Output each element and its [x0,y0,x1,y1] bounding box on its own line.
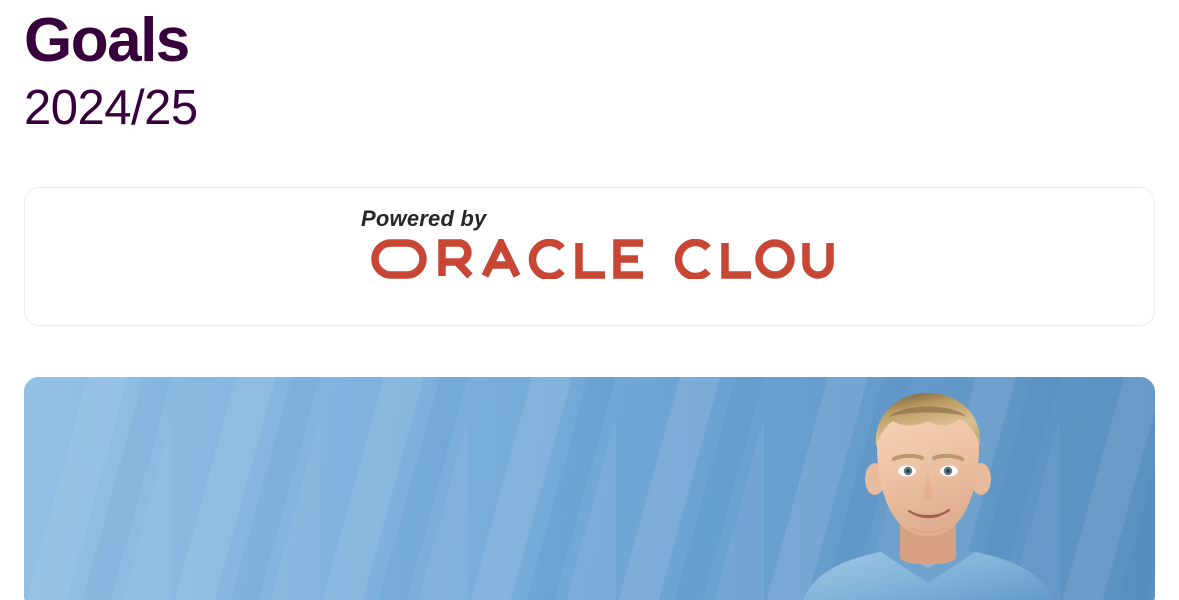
chevron-pattern [24,377,1155,600]
page-title: Goals [24,8,198,75]
sponsor-lockup: Powered by [361,206,835,279]
sponsor-card: Powered by [24,187,1155,326]
oracle-cloud-logo [369,239,835,279]
leaderboard-card-rank-1[interactable]: 1 Erling Haaland MANCHESTER [24,377,1155,600]
page-header: Goals 2024/25 [24,0,198,138]
season-subtitle: 2024/25 [24,79,198,138]
powered-by-label: Powered by [361,206,486,232]
goals-leaderboard-page: Goals 2024/25 Powered by [0,0,1179,600]
